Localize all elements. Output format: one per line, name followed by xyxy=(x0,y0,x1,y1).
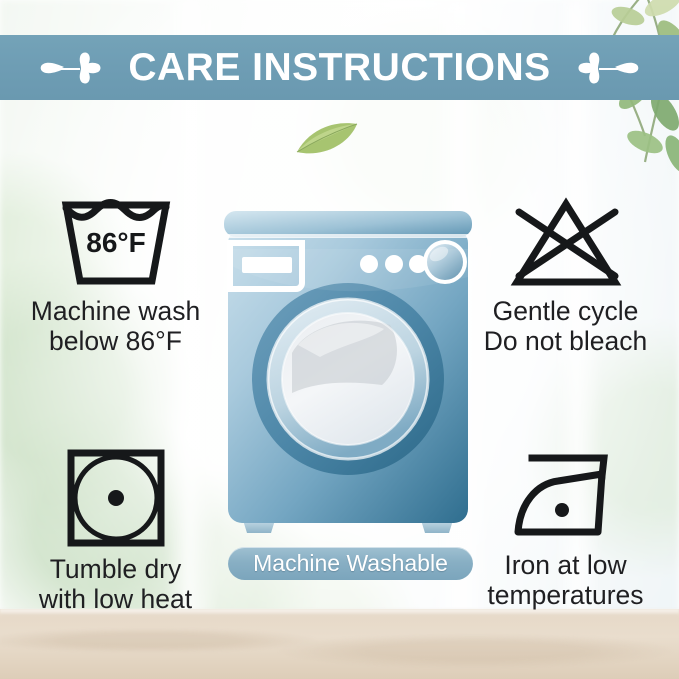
badge-label: Machine Washable xyxy=(253,552,448,575)
single-leaf-icon xyxy=(293,118,361,160)
care-symbol-caption: Machine wash below 86°F xyxy=(31,297,200,356)
care-symbol-caption: Gentle cycle Do not bleach xyxy=(484,297,648,356)
triangle-crossed-bleach-icon xyxy=(507,196,625,290)
iron-icon xyxy=(506,446,626,546)
machine-washable-badge: Machine Washable xyxy=(228,547,473,580)
fleur-de-lis-icon xyxy=(577,45,639,91)
wooden-table-surface xyxy=(0,609,679,679)
page-title: CARE INSTRUCTIONS xyxy=(128,48,550,87)
care-symbol-iron: Iron at low temperatures xyxy=(458,446,673,610)
wash-tub-icon: 86°F xyxy=(57,196,175,290)
machine-top xyxy=(224,211,472,237)
fleur-de-lis-icon xyxy=(40,45,102,91)
care-symbol-do-not-bleach: Gentle cycle Do not bleach xyxy=(458,196,673,356)
care-symbol-caption: Tumble dry with low heat xyxy=(39,555,192,614)
washing-machine-illustration xyxy=(222,205,474,539)
wash-temperature-text: 86°F xyxy=(86,227,145,258)
washer-door xyxy=(252,283,444,475)
care-symbol-machine-wash: 86°F Machine wash below 86°F xyxy=(8,196,223,356)
care-symbol-caption: Iron at low temperatures xyxy=(487,551,643,610)
wood-grain-texture xyxy=(0,609,679,679)
care-instructions-graphic: CARE INSTRUCTIONS 86°F Machine wash belo… xyxy=(0,0,679,679)
tumble-dry-square-icon xyxy=(64,446,168,550)
care-symbol-tumble-dry: Tumble dry with low heat xyxy=(8,446,223,614)
header-banner: CARE INSTRUCTIONS xyxy=(0,35,679,100)
